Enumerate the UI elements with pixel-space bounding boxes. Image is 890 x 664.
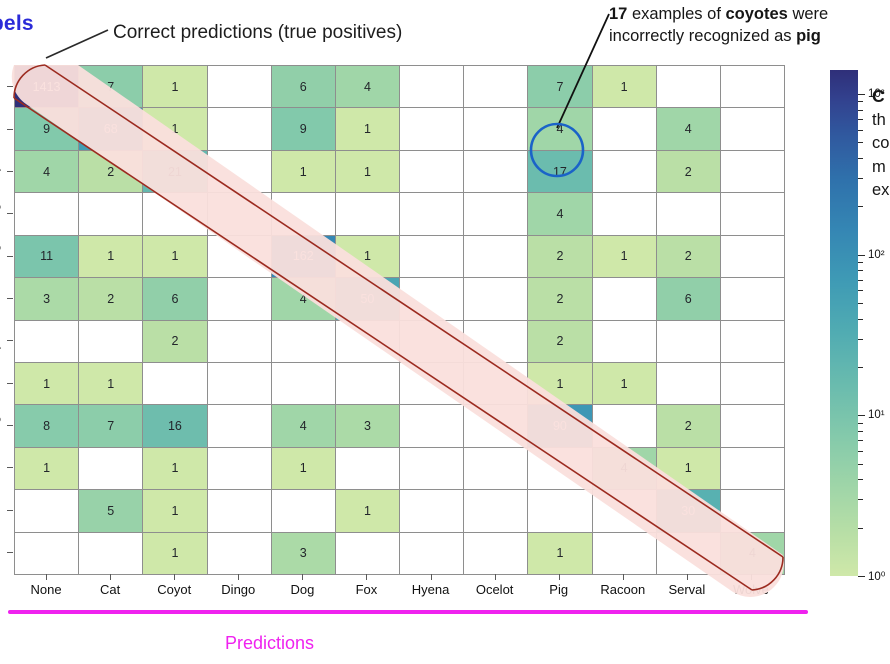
matrix-cell — [464, 363, 527, 404]
y-tick-label-fox: Fox — [0, 287, 1, 309]
matrix-cell — [208, 321, 271, 362]
annotation-count: 17 — [609, 5, 627, 23]
matrix-cell — [400, 108, 463, 149]
matrix-cell — [208, 193, 271, 234]
matrix-cell: 1 — [143, 236, 206, 277]
matrix-cell: 7 — [79, 405, 142, 446]
matrix-cell: 16 — [143, 405, 206, 446]
matrix-cell — [464, 278, 527, 319]
matrix-cell — [15, 321, 78, 362]
y-tick-label-serval: Serval — [0, 491, 1, 528]
matrix-cell: 1 — [336, 151, 399, 192]
matrix-cell — [400, 321, 463, 362]
colorbar-tick — [858, 158, 863, 159]
colorbar-tick — [858, 290, 863, 291]
x-tick-label-serval: Serval — [668, 582, 705, 597]
colorbar-tick — [858, 206, 863, 207]
matrix-cell — [272, 321, 335, 362]
colorbar-tick — [858, 110, 863, 111]
matrix-cell — [208, 236, 271, 277]
matrix-cell: 2 — [143, 321, 206, 362]
matrix-cell — [593, 278, 656, 319]
matrix-cell: 11 — [15, 236, 78, 277]
annotation-class-pig: pig — [796, 27, 821, 45]
matrix-cell: 1 — [593, 363, 656, 404]
matrix-cell: 8 — [15, 405, 78, 446]
x-tick-label-ocelot: Ocelot — [476, 582, 514, 597]
matrix-cell — [15, 490, 78, 531]
x-tick-mark — [431, 574, 432, 580]
colorbar-tick — [858, 464, 863, 465]
x-tick-mark — [174, 574, 175, 580]
x-tick-mark — [46, 574, 47, 580]
matrix-cell: 50 — [336, 278, 399, 319]
matrix-cell — [272, 490, 335, 531]
matrix-cell: 2 — [528, 321, 591, 362]
matrix-cell — [721, 448, 784, 489]
x-tick-label-coyot: Coyot — [157, 582, 191, 597]
matrix-cell: 1 — [143, 533, 206, 574]
colorbar-tick — [858, 479, 863, 480]
annotation-side-clipped: Cthcomex — [872, 84, 889, 203]
y-tick-label-wolve: Wolve — [0, 534, 1, 570]
matrix-cell — [721, 405, 784, 446]
y-tick-label-cat: Cat — [0, 118, 1, 138]
annotation-text-3: incorrectly recognized as — [609, 27, 796, 45]
matrix-cell — [657, 321, 720, 362]
annotation-coyote-misclassification: 17 examples of coyotes were incorrectly … — [609, 3, 828, 48]
y-tick-label-coyot: Coyot — [0, 154, 1, 188]
colorbar-tick — [858, 130, 863, 131]
matrix-cell — [593, 151, 656, 192]
y-tick-mark — [7, 213, 13, 214]
x-tick-mark — [302, 574, 303, 580]
matrix-cell: 9 — [15, 108, 78, 149]
matrix-cell — [336, 448, 399, 489]
matrix-cell — [400, 405, 463, 446]
colorbar-tick — [858, 440, 863, 441]
matrix-cell: 4 — [336, 66, 399, 107]
colorbar-tick — [858, 576, 865, 577]
matrix-cell: 2 — [528, 236, 591, 277]
matrix-cell — [593, 533, 656, 574]
colorbar-tick — [858, 94, 865, 95]
matrix-cell — [208, 151, 271, 192]
matrix-cell: 1 — [79, 363, 142, 404]
matrix-cell — [721, 363, 784, 404]
x-axis-ticks: NoneCatCoyotDingoDogFoxHyenaOcelotPigRac… — [14, 574, 783, 600]
y-tick-mark — [7, 552, 13, 553]
colorbar-tick — [858, 431, 863, 432]
matrix-cell — [336, 321, 399, 362]
x-tick-mark — [238, 574, 239, 580]
matrix-cell: 4 — [721, 533, 784, 574]
matrix-cell: 68 — [79, 108, 142, 149]
x-tick-label-wolve: Wolve — [733, 582, 769, 597]
matrix-cell — [15, 193, 78, 234]
colorbar-tick — [858, 528, 863, 529]
colorbar-tick — [858, 270, 863, 271]
confusion-matrix-figure: Labels Correct predictions (true positiv… — [0, 0, 890, 664]
matrix-cell — [657, 66, 720, 107]
matrix-cell: 162 — [272, 236, 335, 277]
y-tick-label-hyena: Hyena — [0, 321, 1, 359]
y-tick-mark — [7, 340, 13, 341]
matrix-cell: 1 — [593, 236, 656, 277]
annotation-correct-predictions: Correct predictions (true positives) — [113, 22, 402, 44]
matrix-cell: 90 — [528, 405, 591, 446]
matrix-cell: 21 — [143, 151, 206, 192]
matrix-cell — [528, 490, 591, 531]
matrix-cell — [208, 66, 271, 107]
matrix-cell — [208, 490, 271, 531]
matrix-cell — [464, 533, 527, 574]
matrix-cell: 1 — [143, 490, 206, 531]
y-tick-mark — [7, 383, 13, 384]
matrix-cell — [657, 363, 720, 404]
y-tick-mark — [7, 298, 13, 299]
matrix-cell — [208, 278, 271, 319]
annotation-text-1: examples of — [627, 5, 725, 23]
matrix-cell — [79, 321, 142, 362]
matrix-cell: 1 — [79, 236, 142, 277]
matrix-cell: 2 — [79, 278, 142, 319]
colorbar-tick — [858, 178, 863, 179]
matrix-cell: 1 — [593, 66, 656, 107]
colorbar-tick — [858, 303, 863, 304]
matrix-cell — [272, 193, 335, 234]
matrix-cell — [657, 533, 720, 574]
x-tick-label-fox: Fox — [356, 582, 378, 597]
matrix-cell — [657, 193, 720, 234]
matrix-cell: 2 — [657, 405, 720, 446]
y-tick-mark — [7, 129, 13, 130]
annotation-text-2: were — [788, 5, 828, 23]
y-axis-ticks: NoneCatCoyotDingoDogFoxHyenaOcelotPigRac… — [0, 65, 14, 573]
matrix-cell: 4 — [528, 108, 591, 149]
x-tick-mark — [623, 574, 624, 580]
matrix-cell — [79, 193, 142, 234]
colorbar-tick — [858, 119, 863, 120]
matrix-cell — [400, 236, 463, 277]
leader-line-correct — [46, 30, 108, 58]
matrix-cell: 4 — [528, 193, 591, 234]
matrix-cell — [400, 448, 463, 489]
matrix-cell — [79, 448, 142, 489]
colorbar-tick — [858, 280, 863, 281]
colorbar-tick — [858, 339, 863, 340]
matrix-cell — [464, 448, 527, 489]
matrix-cell — [464, 66, 527, 107]
y-tick-label-ocelot: Ocelot — [0, 364, 1, 402]
matrix-cell — [721, 66, 784, 107]
y-tick-mark — [7, 256, 13, 257]
x-tick-mark — [559, 574, 560, 580]
matrix-cell: 4 — [272, 278, 335, 319]
matrix-cell — [528, 448, 591, 489]
matrix-cell — [593, 405, 656, 446]
matrix-cell: 2 — [657, 236, 720, 277]
x-tick-label-dingo: Dingo — [221, 582, 255, 597]
matrix-cell: 1 — [272, 448, 335, 489]
y-tick-label-pig: Pig — [0, 415, 1, 434]
matrix-cell: 1 — [336, 490, 399, 531]
colorbar-label: 10⁰ — [868, 569, 885, 583]
matrix-cell — [208, 108, 271, 149]
matrix-cell: 5 — [79, 490, 142, 531]
matrix-cell — [593, 108, 656, 149]
matrix-cell — [464, 236, 527, 277]
matrix-cell: 1 — [143, 66, 206, 107]
colorbar-label: 10² — [868, 249, 885, 261]
matrix-cell — [272, 363, 335, 404]
matrix-cell — [721, 151, 784, 192]
confusion-matrix-grid: 1413716471968191444221111724111116212123… — [14, 65, 785, 575]
colorbar-tick — [858, 255, 865, 256]
matrix-cell: 1 — [528, 363, 591, 404]
matrix-cell — [400, 151, 463, 192]
matrix-cell — [593, 490, 656, 531]
matrix-cell: 1 — [15, 363, 78, 404]
matrix-cell — [15, 533, 78, 574]
matrix-cell: 1 — [143, 108, 206, 149]
matrix-cell: 4 — [593, 448, 656, 489]
matrix-cell: 4 — [15, 151, 78, 192]
matrix-cell: 9 — [272, 108, 335, 149]
matrix-cell: 1413 — [15, 66, 78, 107]
y-axis-title: Labels — [0, 12, 34, 36]
y-tick-mark — [7, 510, 13, 511]
matrix-cell — [593, 321, 656, 362]
colorbar-tick — [858, 451, 863, 452]
matrix-cell — [400, 193, 463, 234]
colorbar-tick — [858, 142, 863, 143]
x-tick-mark — [687, 574, 688, 580]
x-tick-mark — [366, 574, 367, 580]
matrix-cell: 4 — [657, 108, 720, 149]
matrix-cell: 1 — [336, 236, 399, 277]
matrix-cell: 1 — [15, 448, 78, 489]
matrix-cell: 30 — [657, 490, 720, 531]
matrix-cell: 17 — [528, 151, 591, 192]
matrix-cell: 7 — [79, 66, 142, 107]
y-tick-mark — [7, 467, 13, 468]
x-tick-mark — [110, 574, 111, 580]
x-tick-mark — [495, 574, 496, 580]
x-tick-label-pig: Pig — [549, 582, 568, 597]
matrix-cell — [208, 363, 271, 404]
x-axis-title: Predictions — [225, 633, 314, 654]
matrix-cell — [208, 448, 271, 489]
matrix-cell — [721, 321, 784, 362]
matrix-cell — [721, 108, 784, 149]
colorbar-label: 10¹ — [868, 409, 885, 421]
matrix-cell: 2 — [79, 151, 142, 192]
matrix-cell: 1 — [336, 108, 399, 149]
matrix-cell — [400, 66, 463, 107]
colorbar-tick — [858, 319, 863, 320]
matrix-cell — [464, 490, 527, 531]
x-tick-mark — [751, 574, 752, 580]
matrix-cell — [721, 193, 784, 234]
colorbar-gradient — [830, 70, 858, 576]
y-tick-label-dog: Dog — [0, 244, 1, 268]
matrix-cell: 7 — [528, 66, 591, 107]
matrix-cell: 1 — [272, 151, 335, 192]
matrix-cell: 3 — [272, 533, 335, 574]
matrix-cell — [400, 363, 463, 404]
matrix-cell — [593, 193, 656, 234]
x-tick-label-cat: Cat — [100, 582, 120, 597]
matrix-cell — [208, 533, 271, 574]
matrix-cell — [721, 490, 784, 531]
matrix-cell: 2 — [528, 278, 591, 319]
matrix-cell — [336, 363, 399, 404]
matrix-cell — [464, 193, 527, 234]
matrix-cell — [208, 405, 271, 446]
colorbar-tick — [858, 101, 863, 102]
x-tick-label-dog: Dog — [290, 582, 314, 597]
matrix-cell — [143, 363, 206, 404]
matrix-cell — [464, 108, 527, 149]
annotation-class-coyotes: coyotes — [726, 5, 788, 23]
colorbar-tick — [858, 262, 863, 263]
matrix-cell: 6 — [143, 278, 206, 319]
x-tick-label-hyena: Hyena — [412, 582, 450, 597]
matrix-cell — [721, 278, 784, 319]
matrix-cell: 2 — [657, 151, 720, 192]
matrix-cell — [400, 490, 463, 531]
colorbar-tick — [858, 423, 863, 424]
matrix-cell — [336, 193, 399, 234]
matrix-cell — [464, 405, 527, 446]
colorbar-tick — [858, 499, 863, 500]
y-tick-label-dingo: Dingo — [0, 196, 1, 230]
matrix-cell: 6 — [657, 278, 720, 319]
matrix-cell: 1 — [143, 448, 206, 489]
matrix-cell: 1 — [657, 448, 720, 489]
y-tick-mark — [7, 171, 13, 172]
y-tick-label-none: None — [0, 71, 1, 102]
matrix-cell — [721, 236, 784, 277]
matrix-cell — [79, 533, 142, 574]
matrix-cell: 3 — [336, 405, 399, 446]
matrix-cell — [400, 278, 463, 319]
matrix-cell — [464, 151, 527, 192]
matrix-cell: 6 — [272, 66, 335, 107]
x-tick-label-none: None — [30, 582, 61, 597]
matrix-cell: 4 — [272, 405, 335, 446]
matrix-cell — [464, 321, 527, 362]
y-tick-label-racoon: Racoon — [0, 445, 1, 490]
matrix-cell — [336, 533, 399, 574]
matrix-cell: 1 — [528, 533, 591, 574]
y-tick-mark — [7, 86, 13, 87]
matrix-cell — [400, 533, 463, 574]
matrix-cell — [143, 193, 206, 234]
y-tick-mark — [7, 425, 13, 426]
x-tick-label-racoon: Racoon — [600, 582, 645, 597]
colorbar-tick — [858, 415, 865, 416]
predictions-underline — [8, 610, 808, 614]
colorbar-tick — [858, 367, 863, 368]
matrix-cell: 3 — [15, 278, 78, 319]
